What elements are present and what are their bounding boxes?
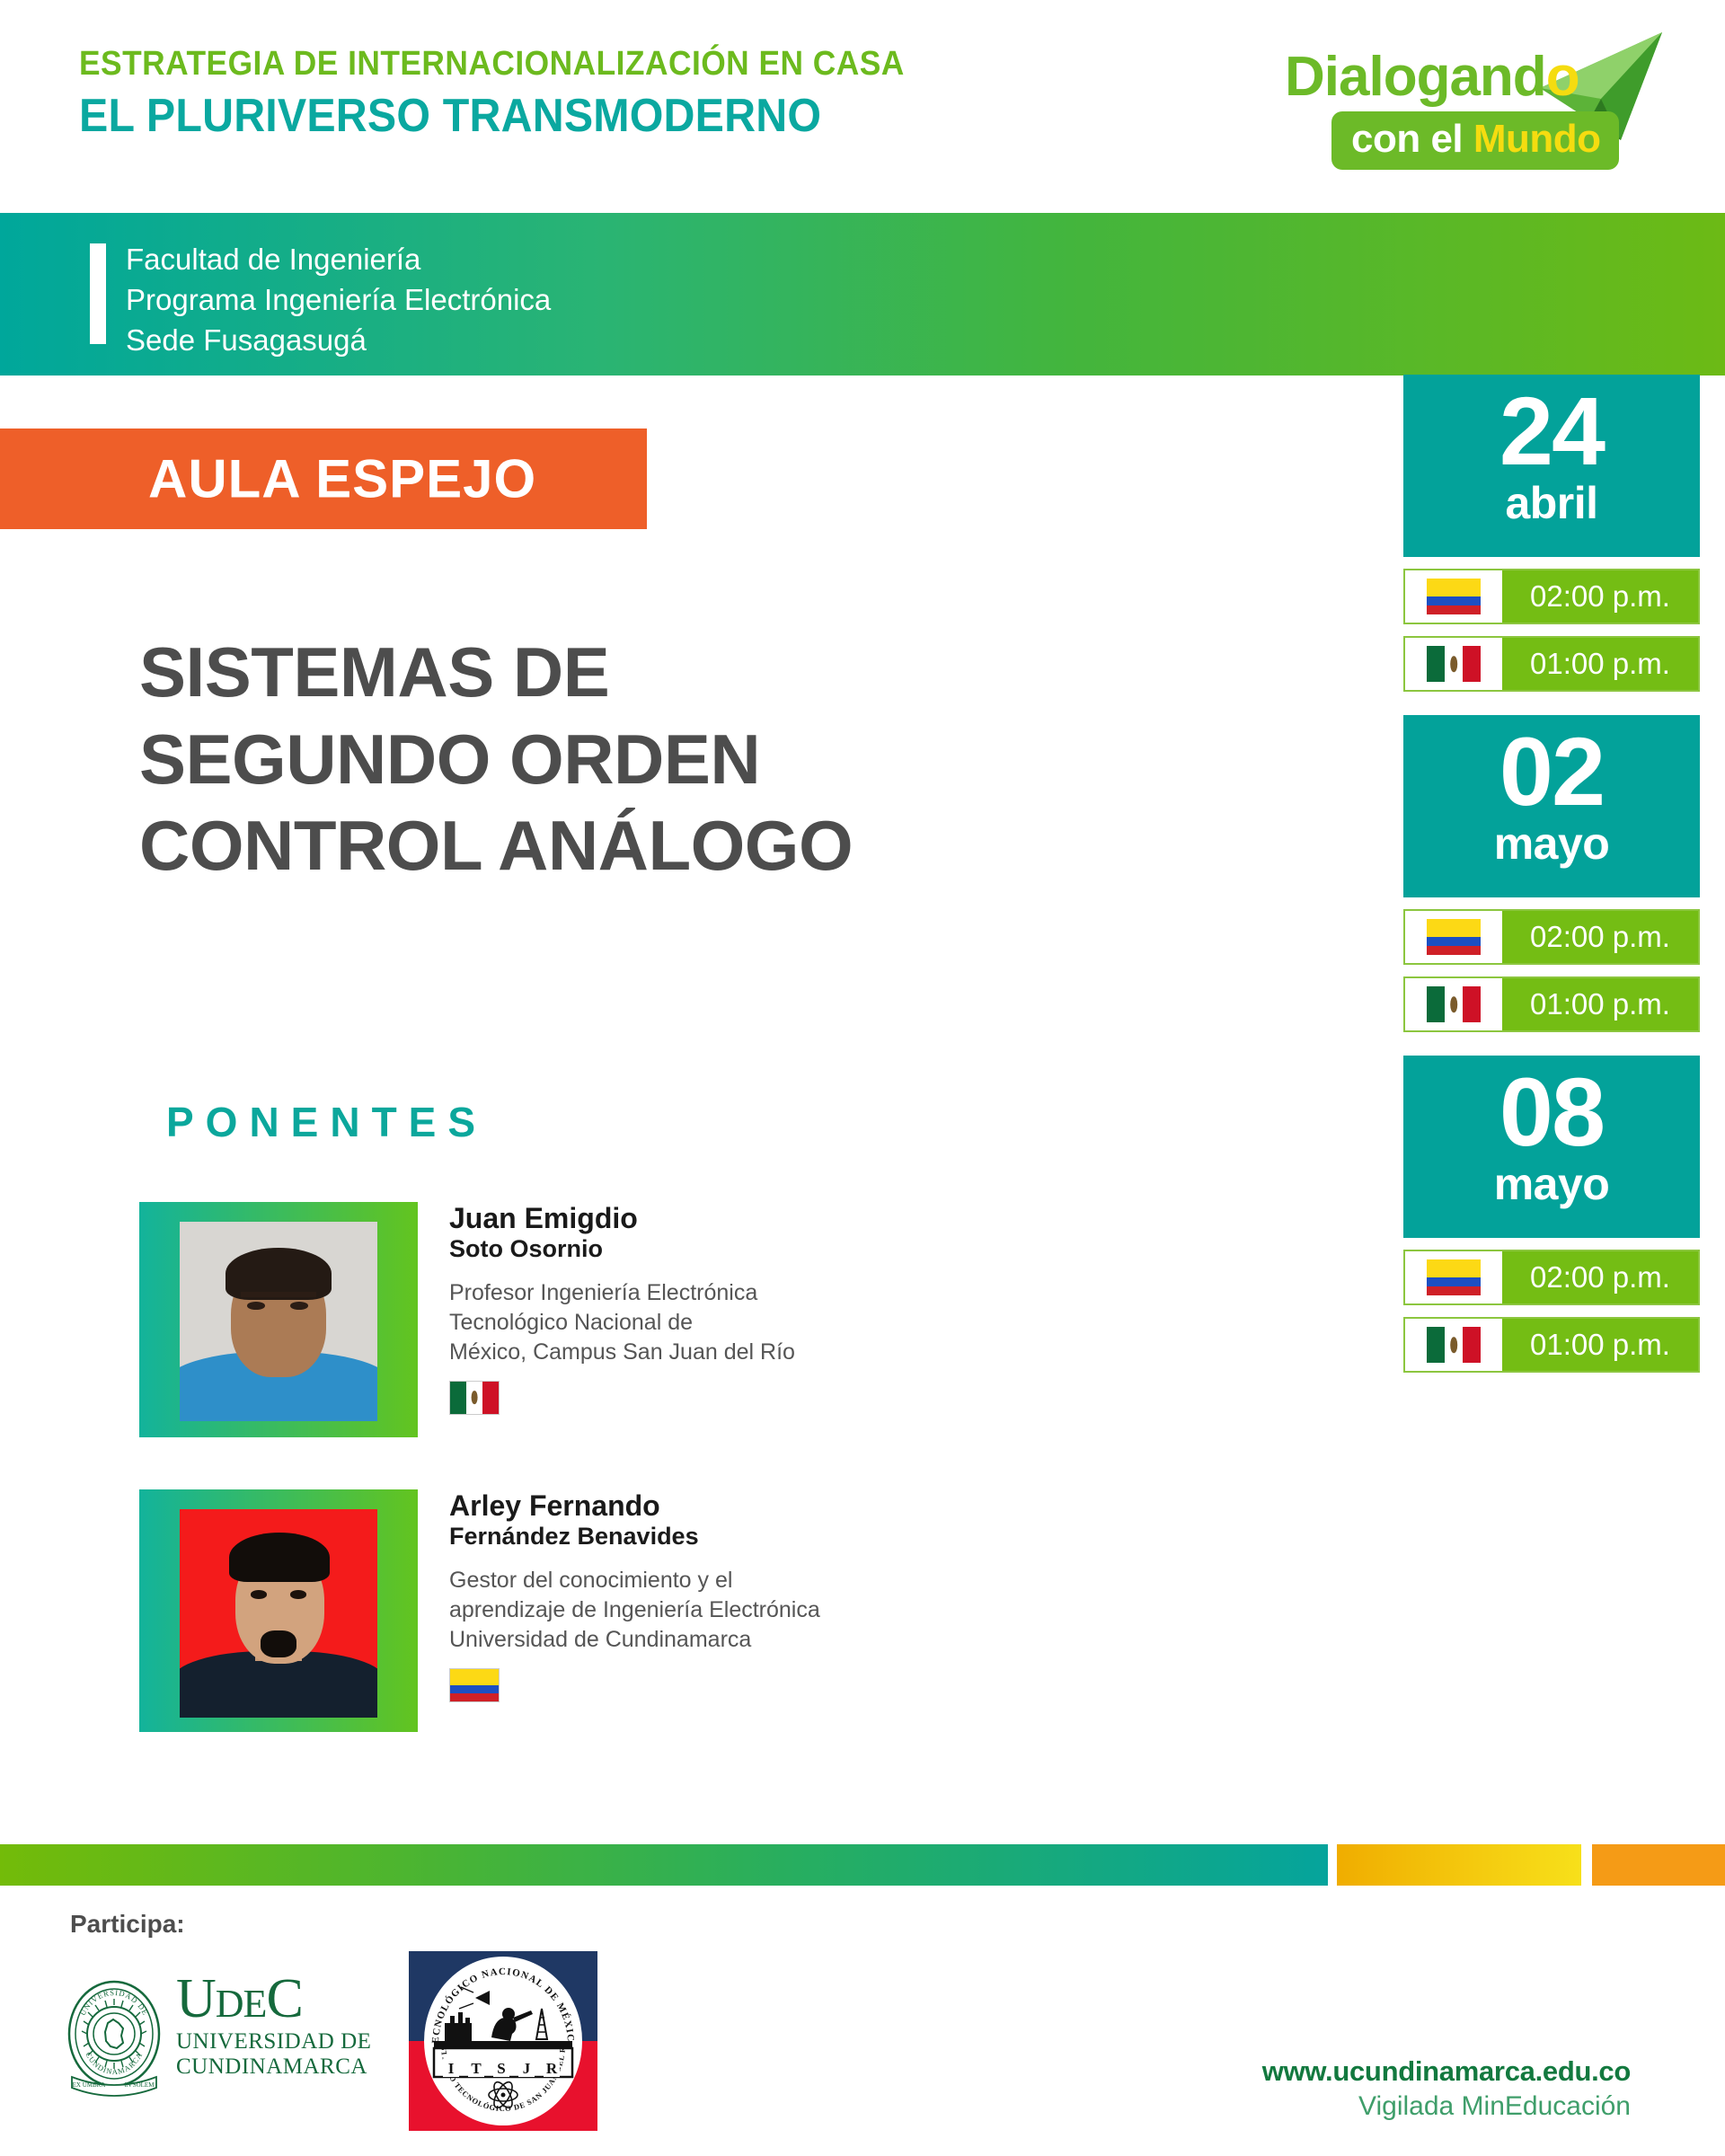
time-row: 02:00 p.m. <box>1403 569 1700 624</box>
event-title: SISTEMAS DE SEGUNDO ORDEN CONTROL ANÁLOG… <box>139 629 1325 889</box>
time-value: 02:00 p.m. <box>1502 911 1698 963</box>
speaker-role-line-1: Gestor del conocimiento y el <box>449 1566 820 1595</box>
time-value: 01:00 p.m. <box>1502 638 1698 690</box>
svg-text:T: T <box>471 2060 482 2077</box>
footer-bar-yellow <box>1337 1844 1581 1886</box>
faculty-line-3: Sede Fusagasugá <box>126 321 551 361</box>
date-card: 08 mayo <box>1403 1056 1700 1238</box>
svg-text:I: I <box>448 2060 455 2077</box>
time-flag-cell <box>1405 570 1502 623</box>
event-title-line-3: CONTROL ANÁLOGO <box>139 802 1325 889</box>
brand-pill-prefix: con el <box>1351 117 1473 161</box>
date-day: 08 <box>1403 1065 1700 1160</box>
date-month: mayo <box>1403 821 1700 866</box>
speaker-role: Profesor Ingeniería Electrónica Tecnológ… <box>449 1278 795 1368</box>
event-title-line-1: SISTEMAS DE <box>139 629 1325 716</box>
time-flag-cell <box>1405 638 1502 690</box>
svg-text:S: S <box>497 2060 505 2077</box>
time-value: 01:00 p.m. <box>1502 1319 1698 1371</box>
time-row: 01:00 p.m. <box>1403 1317 1700 1373</box>
faculty-line-1: Facultad de Ingeniería <box>126 240 551 280</box>
faculty-banner: Facultad de Ingeniería Programa Ingenier… <box>0 213 1725 376</box>
tecnm-itsjr-logo: TECNOLÓGICO NACIONAL DE MÉXICO INSTITUTO… <box>409 1951 597 2131</box>
colombia-flag-icon <box>1427 919 1481 955</box>
participa-label: Participa: <box>70 1910 185 1939</box>
dialogando-logo: Dialogando con el Mundo <box>1276 25 1671 178</box>
mexico-flag-icon <box>449 1381 500 1415</box>
avatar <box>180 1509 377 1718</box>
speaker-photo-juan <box>180 1222 377 1421</box>
udec-acronym: UDEC <box>176 1973 371 2026</box>
speaker-role-line-2: aprendizaje de Ingeniería Electrónica <box>449 1595 820 1625</box>
speaker-role-line-1: Profesor Ingeniería Electrónica <box>449 1278 795 1308</box>
speaker-role-line-3: Universidad de Cundinamarca <box>449 1625 820 1655</box>
date-day: 02 <box>1403 724 1700 819</box>
faculty-text-block: Facultad de Ingeniería Programa Ingenier… <box>126 240 551 361</box>
strategy-line: ESTRATEGIA DE INTERNACIONALIZACIÓN EN CA… <box>79 47 905 83</box>
time-row: 02:00 p.m. <box>1403 909 1700 965</box>
schedule-sidebar: 24 abril 02:00 p.m. 01:00 p.m. 02 mayo <box>1403 375 1700 1396</box>
speaker-first-name: Arley Fernando <box>449 1489 820 1522</box>
udec-acronym-u: U <box>176 1968 216 2029</box>
brand-pill-accent: Mundo <box>1473 117 1601 161</box>
udec-name-line-2: CUNDINAMARCA <box>176 2054 371 2081</box>
time-row: 01:00 p.m. <box>1403 636 1700 692</box>
footer-bar-orange <box>1592 1844 1725 1886</box>
speaker-last-name: Soto Osornio <box>449 1234 795 1263</box>
avatar <box>180 1222 377 1421</box>
date-card: 02 mayo <box>1403 715 1700 897</box>
program-line: EL PLURIVERSO TRANSMODERNO <box>79 92 905 141</box>
faculty-line-2: Programa Ingeniería Electrónica <box>126 280 551 321</box>
time-flag-cell <box>1405 1251 1502 1303</box>
time-row: 02:00 p.m. <box>1403 1250 1700 1305</box>
website-subtitle: Vigilada MinEducación <box>1262 2091 1631 2122</box>
time-value: 01:00 p.m. <box>1502 978 1698 1030</box>
date-card: 24 abril <box>1403 375 1700 557</box>
udec-fullname: UNIVERSIDAD DE CUNDINAMARCA <box>176 2029 371 2081</box>
faculty-accent-bar <box>90 243 106 344</box>
speaker-photo-frame <box>139 1489 418 1732</box>
speaker-photo-frame <box>139 1202 418 1437</box>
brand-word-main: Dialogand <box>1285 46 1546 108</box>
brand-wordmark: Dialogando <box>1285 45 1579 109</box>
time-flag-cell <box>1405 978 1502 1030</box>
mexico-flag-icon <box>1427 986 1481 1022</box>
speaker-role-line-3: México, Campus San Juan del Río <box>449 1338 795 1367</box>
colombia-flag-icon <box>1427 1259 1481 1295</box>
speaker-photo-arley <box>180 1509 377 1718</box>
time-flag-cell <box>1405 1319 1502 1371</box>
udec-acronym-de: DE <box>216 1982 267 2026</box>
udec-logo: EX UMBRA IN SOLEM UNIVERSIDAD DE CUNDINA… <box>61 1973 358 2107</box>
udec-wordmark: UDEC UNIVERSIDAD DE CUNDINAMARCA <box>176 1973 371 2081</box>
date-block: 02 mayo 02:00 p.m. 01:00 p.m. <box>1403 715 1700 1032</box>
date-month: abril <box>1403 481 1700 526</box>
date-month: mayo <box>1403 1162 1700 1206</box>
mexico-flag-icon <box>1427 646 1481 682</box>
poster-header: ESTRATEGIA DE INTERNACIONALIZACIÓN EN CA… <box>0 0 1725 213</box>
brand-word-accent: o <box>1546 46 1579 108</box>
website-url[interactable]: www.ucundinamarca.edu.co <box>1262 2055 1631 2088</box>
speaker-first-name: Juan Emigdio <box>449 1202 795 1234</box>
header-title-block: ESTRATEGIA DE INTERNACIONALIZACIÓN EN CA… <box>79 47 967 140</box>
mexico-flag-icon <box>1427 1327 1481 1363</box>
udec-name-line-1: UNIVERSIDAD DE <box>176 2029 371 2055</box>
svg-text:IN SOLEM: IN SOLEM <box>125 2081 155 2089</box>
speaker-info: Arley Fernando Fernández Benavides Gesto… <box>449 1489 820 1702</box>
date-day: 24 <box>1403 384 1700 479</box>
time-flag-cell <box>1405 911 1502 963</box>
speakers-heading: PONENTES <box>166 1098 487 1146</box>
aula-espejo-label: AULA ESPEJO <box>148 448 536 510</box>
event-title-line-2: SEGUNDO ORDEN <box>139 716 1325 803</box>
svg-text:R: R <box>546 2060 558 2077</box>
colombia-flag-icon <box>1427 579 1481 614</box>
time-value: 02:00 p.m. <box>1502 1251 1698 1303</box>
aula-espejo-badge: AULA ESPEJO <box>0 429 647 529</box>
brand-tagline-pill: con el Mundo <box>1331 111 1619 170</box>
udec-acronym-c: C <box>266 1968 302 2029</box>
time-row: 01:00 p.m. <box>1403 976 1700 1032</box>
speaker-info: Juan Emigdio Soto Osornio Profesor Ingen… <box>449 1202 795 1415</box>
colombia-flag-icon <box>449 1668 500 1702</box>
time-value: 02:00 p.m. <box>1502 570 1698 623</box>
speaker-role-line-2: Tecnológico Nacional de <box>449 1308 795 1338</box>
svg-text:J: J <box>523 2060 531 2077</box>
svg-text:EX UMBRA: EX UMBRA <box>73 2081 106 2089</box>
website-block: www.ucundinamarca.edu.co Vigilada MinEdu… <box>1262 2055 1631 2122</box>
footer-bar-green <box>0 1844 1328 1886</box>
speaker-role: Gestor del conocimiento y el aprendizaje… <box>449 1566 820 1656</box>
udec-seal-icon: EX UMBRA IN SOLEM UNIVERSIDAD DE CUNDINA… <box>61 1976 167 2104</box>
date-block: 24 abril 02:00 p.m. 01:00 p.m. <box>1403 375 1700 692</box>
date-block: 08 mayo 02:00 p.m. 01:00 p.m. <box>1403 1056 1700 1373</box>
speaker-last-name: Fernández Benavides <box>449 1522 820 1551</box>
